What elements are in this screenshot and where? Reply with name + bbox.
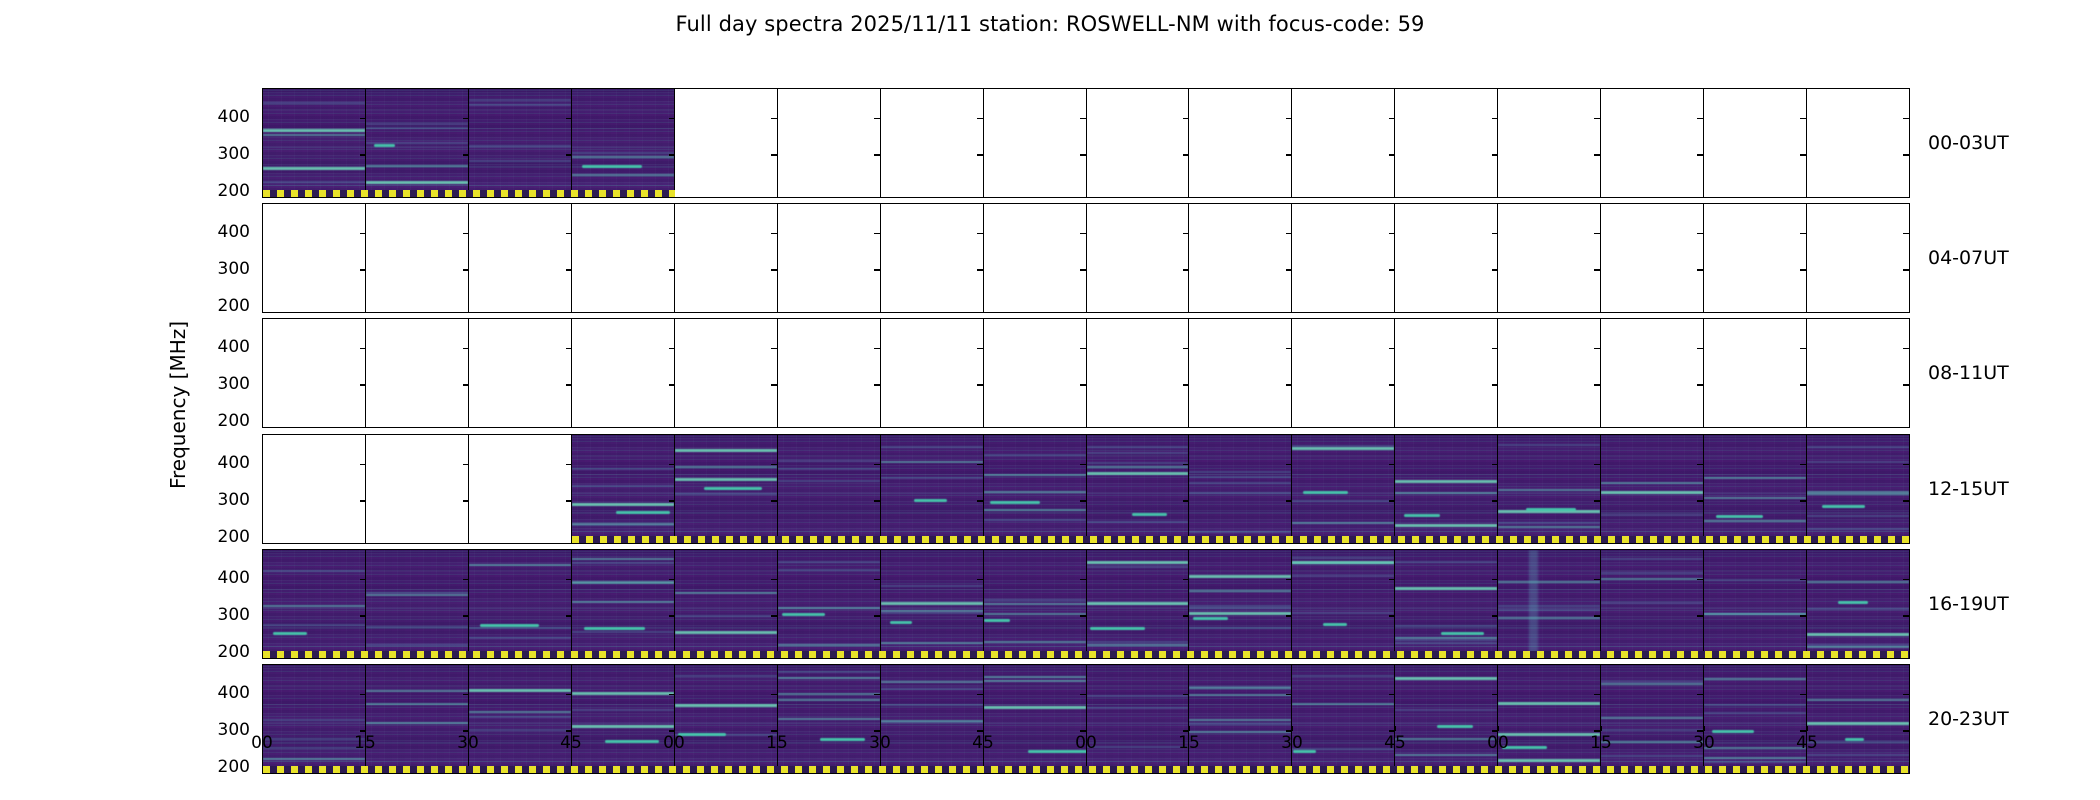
emission-streak [1292,500,1394,502]
emission-streak [1292,675,1394,677]
time-panel[interactable] [984,550,1087,658]
emission-streak [778,644,880,646]
y-tick-mark [1389,154,1395,155]
emission-streak [778,468,880,470]
y-tick-mark [262,579,263,580]
time-panel[interactable] [1395,89,1498,197]
y-tick-mark [1492,154,1498,155]
emission-streak [1189,575,1291,578]
time-panel[interactable] [1189,319,1292,427]
time-panel[interactable] [1292,89,1395,197]
time-panel[interactable] [263,204,366,312]
time-panel[interactable] [1704,435,1807,543]
time-panel[interactable] [1601,319,1704,427]
time-panel[interactable] [366,550,469,658]
y-tick-mark [1389,348,1395,349]
y-tick-mark [977,464,983,465]
time-panel[interactable] [778,204,881,312]
emission-streak [778,460,880,462]
y-tick-mark [771,118,777,119]
emission-streak [1704,704,1806,706]
y-tick-mark [1903,579,1909,580]
y-tick-mark [1389,118,1395,119]
y-tick-mark [1389,615,1395,616]
emission-streak [1704,477,1806,479]
y-tick-mark [771,579,777,580]
time-panel[interactable] [1807,204,1909,312]
y-tick-mark [1183,464,1189,465]
spectrogram-tile [1395,550,1497,658]
y-tick-mark [262,384,263,385]
emission-streak [1498,605,1600,607]
y-tick-mark [1697,154,1703,155]
time-panel[interactable] [1189,550,1292,658]
row-time-label: 00-03UT [1928,132,2009,154]
time-panel[interactable] [1087,550,1190,658]
time-panel[interactable] [1807,319,1909,427]
time-panel[interactable] [1807,435,1909,543]
time-panel[interactable] [1395,204,1498,312]
emission-streak [778,561,880,563]
emission-streak [675,704,777,707]
emission-streak [881,704,983,706]
x-tick-mark [262,726,263,731]
time-panel[interactable] [1189,435,1292,543]
time-panel[interactable] [1292,435,1395,543]
time-panel[interactable] [675,550,778,658]
emission-streak [1498,581,1600,583]
y-tick-mark [771,348,777,349]
time-panel[interactable] [1807,550,1909,658]
y-tick-label: 400 [218,107,250,127]
y-tick-mark [360,384,366,385]
spectrogram-tile [469,550,571,658]
y-tick-mark [262,191,263,192]
time-panel[interactable] [1601,435,1704,543]
y-tick-mark [1903,384,1909,385]
bright-feature [480,624,539,627]
y-tick-label: 400 [218,568,250,588]
y-tick-label: 300 [218,490,250,510]
emission-streak [366,127,468,129]
time-panel[interactable] [366,435,469,543]
y-tick-mark [1183,579,1189,580]
emission-streak [572,709,674,711]
spectrogram-tile [778,435,880,543]
emission-streak [469,160,571,162]
emission-streak [366,626,468,628]
y-tick-mark [1697,500,1703,501]
y-tick-mark [977,384,983,385]
y-tick-mark [1389,500,1395,501]
bright-feature [582,165,642,168]
y-tick-mark [977,348,983,349]
y-tick-mark [1389,384,1395,385]
time-panel[interactable] [881,550,984,658]
emission-streak [984,599,1086,601]
emission-streak [1601,681,1703,683]
panel-strip [263,435,1909,543]
spectrogram-row: 200300400 [262,318,1910,428]
time-panel[interactable] [366,319,469,427]
spectrogram-tile [1395,435,1497,543]
y-tick-mark [771,233,777,234]
emission-streak [572,631,674,633]
y-tick-mark [566,464,572,465]
time-panel[interactable] [469,435,572,543]
time-panel[interactable] [1704,319,1807,427]
y-tick-mark [1080,348,1086,349]
emission-streak [1807,581,1909,583]
emission-streak [984,474,1086,476]
time-panel[interactable] [881,89,984,197]
y-tick-mark [1800,464,1806,465]
y-tick-mark [1183,500,1189,501]
emission-streak [1395,625,1497,627]
emission-streak [881,610,983,612]
emission-streak [263,719,365,721]
y-tick-mark [566,348,572,349]
y-tick-mark [1492,269,1498,270]
emission-streak [1087,644,1189,646]
emission-streak [469,711,571,713]
y-tick-mark [1183,384,1189,385]
y-tick-mark [463,464,469,465]
time-panel[interactable] [1395,435,1498,543]
y-tick-mark [262,694,263,695]
emission-streak [881,461,983,463]
time-panel[interactable] [1189,89,1292,197]
emission-streak [1087,602,1189,605]
emission-streak [1395,561,1497,563]
time-panel[interactable] [984,319,1087,427]
y-tick-mark [1594,118,1600,119]
bright-feature [1838,601,1868,604]
spectrogram-tile [1087,435,1189,543]
y-tick-mark [1080,233,1086,234]
y-tick-mark [1594,579,1600,580]
y-tick-mark [1800,118,1806,119]
emission-streak [984,603,1086,605]
y-tick-mark [463,694,469,695]
emission-streak [469,564,571,566]
time-panel[interactable] [778,550,881,658]
emission-streak [1395,639,1497,641]
emission-streak [1189,605,1291,607]
emission-streak [263,570,365,572]
x-tick-label: 30 [457,733,479,753]
x-tick-mark [777,726,778,731]
time-panel[interactable] [1395,319,1498,427]
y-tick-mark [1080,579,1086,580]
y-tick-mark [1903,694,1909,695]
y-tick-mark [1080,615,1086,616]
x-tick-mark [1807,726,1808,731]
emission-streak [984,519,1086,521]
emission-streak [1498,526,1600,528]
emission-streak [984,491,1086,493]
y-tick-mark [262,464,263,465]
time-panel[interactable] [469,550,572,658]
baseline-marker [572,536,1909,543]
bright-feature [1090,627,1144,630]
time-panel[interactable] [675,89,778,197]
x-tick-label: 45 [560,733,582,753]
time-panel[interactable] [469,89,572,197]
y-tick-mark [1492,233,1498,234]
time-panel[interactable] [1087,319,1190,427]
y-tick-mark [262,269,263,270]
y-tick-mark [1594,269,1600,270]
emission-streak [1601,514,1703,516]
emission-streak [1087,561,1189,564]
bright-feature [890,621,912,624]
x-tick-mark [468,726,469,731]
emission-streak [1395,480,1497,483]
baseline-marker [263,190,675,197]
y-tick-mark [566,384,572,385]
time-panel[interactable] [1601,204,1704,312]
emission-streak [1087,472,1189,475]
y-tick-mark [262,348,263,349]
time-panel[interactable] [1601,550,1704,658]
x-tick-label: 45 [972,733,994,753]
time-panel[interactable] [778,89,881,197]
bright-feature [273,632,307,635]
time-panel[interactable] [366,89,469,197]
y-tick-mark [262,154,263,155]
y-tick-mark [360,233,366,234]
emission-streak [881,477,983,479]
y-tick-mark [1800,269,1806,270]
y-tick-mark [771,694,777,695]
time-panel[interactable] [263,89,366,197]
spectrogram-tile [1498,550,1600,658]
y-tick-mark [1697,579,1703,580]
emission-streak [1292,612,1394,614]
spectrogram-tile [1498,435,1600,543]
emission-streak [1704,579,1806,581]
time-panel[interactable] [778,435,881,543]
y-tick-mark [463,118,469,119]
time-panel[interactable] [469,319,572,427]
emission-streak [1498,702,1600,705]
emission-streak [1601,602,1703,604]
spectrogram-row: 200300400 [262,549,1910,659]
y-tick-mark [977,615,983,616]
y-tick-mark [977,269,983,270]
y-tick-label: 200 [218,757,250,777]
time-panel[interactable] [675,319,778,427]
emission-streak [778,677,880,679]
time-panel[interactable] [1292,204,1395,312]
bright-feature [616,511,671,514]
emission-streak [675,615,777,617]
y-tick-mark [977,154,983,155]
y-tick-mark [1697,615,1703,616]
emission-streak [1189,590,1291,592]
time-panel[interactable] [1087,89,1190,197]
time-panel[interactable] [263,319,366,427]
y-tick-mark [1389,269,1395,270]
y-tick-mark [874,615,880,616]
spectrogram-figure: Full day spectra 2025/11/11 station: ROS… [0,0,2100,800]
time-panel[interactable] [984,204,1087,312]
time-panel[interactable] [1498,550,1601,658]
y-tick-mark [1800,348,1806,349]
emission-streak [572,558,674,560]
emission-streak [572,485,674,487]
time-panel[interactable] [881,319,984,427]
y-tick-mark [1697,269,1703,270]
spectrogram-tile [1189,550,1291,658]
y-tick-mark [669,269,675,270]
spectrogram-tile [366,89,468,197]
x-tick-mark [1395,726,1396,731]
time-panel[interactable] [881,435,984,543]
y-tick-mark [463,233,469,234]
time-panel[interactable] [778,319,881,427]
time-panel[interactable] [1087,204,1190,312]
emission-streak [1807,699,1909,701]
y-tick-mark [1286,500,1292,501]
baseline-marker [263,766,1909,773]
time-panel[interactable] [1498,435,1601,543]
emission-streak [881,720,983,722]
time-panel[interactable] [1704,89,1807,197]
time-panel[interactable] [881,204,984,312]
emission-streak [1807,491,1909,493]
row-axes [262,434,1910,544]
emission-streak [675,478,777,481]
emission-streak [1189,531,1291,533]
emission-streak [1807,722,1909,725]
x-tick-mark [674,726,675,731]
time-panel[interactable] [1395,550,1498,658]
emission-streak [1395,524,1497,527]
panel-strip [263,550,1909,658]
time-panel[interactable] [469,204,572,312]
time-panel[interactable] [263,435,366,543]
time-panel[interactable] [572,319,675,427]
y-tick-mark [566,269,572,270]
y-tick-mark [977,579,983,580]
y-tick-mark [360,154,366,155]
row-axes [262,88,1910,198]
emission-streak [778,718,880,720]
time-panel[interactable] [1704,204,1807,312]
time-panel[interactable] [1498,204,1601,312]
emission-streak [1087,707,1189,709]
emission-streak [881,688,983,690]
time-panel[interactable] [1807,89,1909,197]
x-tick-label: 00 [251,733,273,753]
emission-streak [572,468,674,470]
time-panel[interactable] [572,204,675,312]
spectrogram-tile [1704,435,1806,543]
bright-feature [984,619,1010,622]
time-panel[interactable] [1498,319,1601,427]
emission-streak [366,123,468,125]
time-panel[interactable] [984,435,1087,543]
time-panel[interactable] [263,550,366,658]
x-tick-label: 15 [1178,733,1200,753]
emission-streak [572,503,674,506]
emission-streak [1807,493,1909,495]
time-panel[interactable] [1292,550,1395,658]
y-tick-mark [874,154,880,155]
y-tick-mark [1183,118,1189,119]
panel-strip [263,204,1909,312]
time-panel[interactable] [572,89,675,197]
y-tick-mark [1800,233,1806,234]
emission-streak [881,612,983,614]
time-panel[interactable] [675,435,778,543]
y-tick-mark [771,615,777,616]
y-tick-mark [262,615,263,616]
spectrogram-row: 200300400 [262,88,1910,198]
y-tick-mark [874,500,880,501]
time-panel[interactable] [572,550,675,658]
time-panel[interactable] [1601,89,1704,197]
y-tick-mark [262,421,263,422]
y-tick-mark [566,500,572,501]
y-tick-mark [1286,579,1292,580]
time-panel[interactable] [366,204,469,312]
y-tick-mark [1183,154,1189,155]
y-tick-mark [669,500,675,501]
emission-streak [1189,694,1291,696]
time-panel[interactable] [1087,435,1190,543]
emission-streak [572,562,674,564]
y-tick-label: 300 [218,605,250,625]
y-tick-mark [1286,269,1292,270]
y-tick-mark [1286,154,1292,155]
y-tick-mark [874,464,880,465]
emission-streak [984,706,1086,709]
y-tick-mark [360,118,366,119]
y-tick-label: 200 [218,642,250,662]
emission-streak [1807,515,1909,517]
emission-streak [1395,642,1497,644]
bright-feature [782,613,825,616]
emission-streak [778,693,880,695]
time-panel[interactable] [1292,319,1395,427]
y-tick-mark [463,384,469,385]
time-panel[interactable] [984,89,1087,197]
time-panel[interactable] [675,204,778,312]
y-tick-mark [1594,464,1600,465]
x-axis: 00153045001530450015304500153045 [262,726,1910,766]
time-panel[interactable] [1704,550,1807,658]
spectrogram-tile [1601,550,1703,658]
x-tick-mark [1189,726,1190,731]
emission-streak [1292,522,1394,524]
emission-streak [1601,482,1703,484]
y-tick-mark [1800,615,1806,616]
y-tick-mark [1286,233,1292,234]
emission-streak [263,167,365,170]
y-tick-label: 400 [218,337,250,357]
time-panel[interactable] [1498,89,1601,197]
emission-streak [1189,471,1291,473]
emission-streak [1601,578,1703,580]
time-panel[interactable] [1189,204,1292,312]
y-tick-mark [669,694,675,695]
time-panel[interactable] [572,435,675,543]
spectrogram-tile [1807,435,1909,543]
emission-streak [1189,482,1291,484]
